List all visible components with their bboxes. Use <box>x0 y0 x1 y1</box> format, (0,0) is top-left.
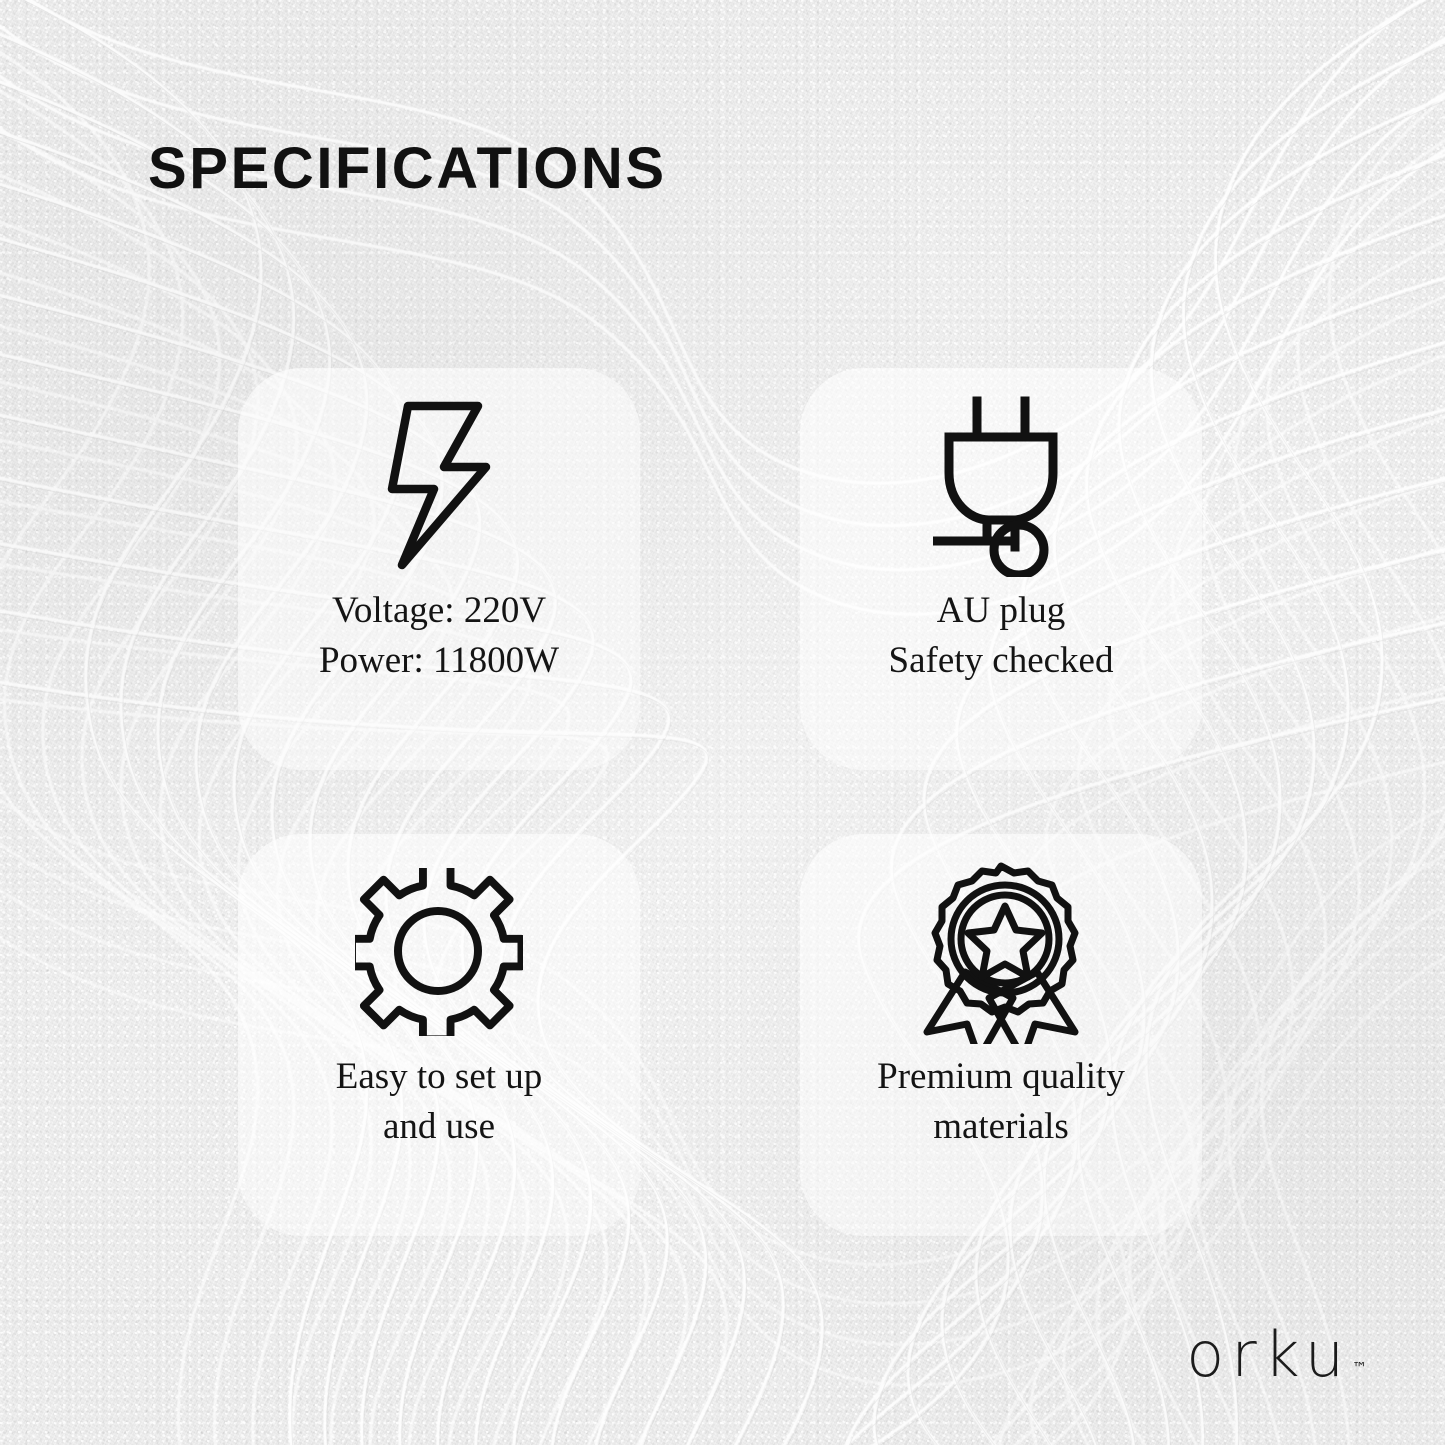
gear-icon <box>355 852 523 1052</box>
spec-caption: Easy to set up and use <box>322 1052 557 1151</box>
specifications-page: SPECIFICATIONS Voltage: 220V Power: 1180… <box>0 0 1445 1445</box>
trademark-symbol: ™ <box>1352 1359 1367 1377</box>
brand-logo: orku ™ <box>1186 1327 1367 1383</box>
spec-caption: AU plug Safety checked <box>875 586 1128 685</box>
specifications-grid: Voltage: 220V Power: 11800W <box>238 368 1202 1236</box>
brand-wordmark: orku <box>1186 1327 1351 1383</box>
spec-caption: Premium quality materials <box>863 1052 1139 1151</box>
spec-card-voltage-power[interactable]: Voltage: 220V Power: 11800W <box>238 368 640 770</box>
spec-card-premium-quality[interactable]: Premium quality materials <box>800 834 1202 1236</box>
spec-card-plug-safety[interactable]: AU plug Safety checked <box>800 368 1202 770</box>
award-badge-icon <box>913 852 1089 1052</box>
lightning-bolt-icon <box>382 386 496 586</box>
power-plug-icon <box>933 386 1069 586</box>
spec-caption: Voltage: 220V Power: 11800W <box>305 586 573 685</box>
page-title: SPECIFICATIONS <box>148 140 667 198</box>
spec-card-easy-setup[interactable]: Easy to set up and use <box>238 834 640 1236</box>
